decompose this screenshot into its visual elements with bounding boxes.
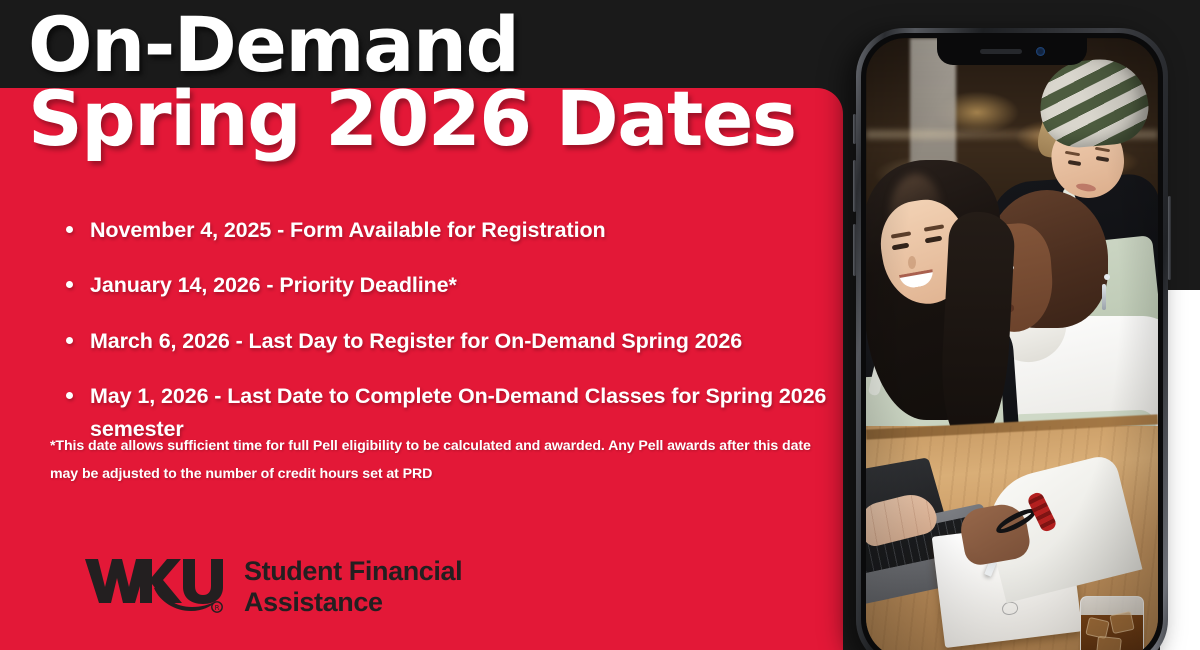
front-camera-icon	[1036, 47, 1045, 56]
phone-screen	[866, 38, 1158, 650]
wooden-table	[866, 426, 1158, 650]
logo-department-name: Student Financial Assistance	[244, 552, 462, 617]
bullet-dot-icon	[66, 337, 73, 344]
volume-up-button-icon[interactable]	[853, 160, 856, 212]
footnote-text: *This date allows sufficient time for fu…	[50, 432, 822, 489]
list-item-label: November 4, 2025 - Form Available for Re…	[90, 214, 606, 247]
notepad-sketch	[1001, 600, 1019, 616]
bullet-dot-icon	[66, 226, 73, 233]
key-dates-list: November 4, 2025 - Form Available for Re…	[66, 214, 836, 469]
power-button-icon[interactable]	[1168, 196, 1171, 280]
logo-line-1: Student Financial	[244, 556, 462, 587]
list-item: January 14, 2026 - Priority Deadline*	[66, 269, 836, 302]
volume-down-button-icon[interactable]	[853, 224, 856, 276]
list-item-label: March 6, 2026 - Last Day to Register for…	[90, 325, 742, 358]
earpiece-speaker-icon	[980, 49, 1022, 54]
poster-canvas: On-Demand Spring 2026 Dates November 4, …	[0, 0, 1200, 650]
wku-wordmark-icon: R	[84, 552, 226, 618]
phone-bezel	[861, 33, 1163, 650]
list-item: March 6, 2026 - Last Day to Register for…	[66, 325, 836, 358]
iced-drink-glass	[1080, 596, 1144, 650]
wku-logo: R Student Financial Assistance	[84, 552, 462, 618]
list-item: November 4, 2025 - Form Available for Re…	[66, 214, 836, 247]
page-title: On-Demand Spring 2026 Dates	[28, 8, 858, 155]
ear-stud-icon	[1104, 274, 1110, 280]
list-item-label: January 14, 2026 - Priority Deadline*	[90, 269, 457, 302]
phone-notch	[937, 38, 1087, 65]
logo-line-2: Assistance	[244, 587, 462, 618]
striped-beanie	[1036, 55, 1151, 150]
earring-icon	[1102, 284, 1106, 310]
ice-cube	[1096, 636, 1122, 650]
headline-line-2: Spring 2026 Dates	[28, 82, 858, 156]
bullet-dot-icon	[66, 281, 73, 288]
bullet-dot-icon	[66, 392, 73, 399]
photo-people-working	[866, 38, 1158, 650]
svg-text:R: R	[215, 604, 220, 612]
phone-mockup	[856, 28, 1168, 650]
person-left-nose	[908, 256, 916, 269]
headline-line-1: On-Demand	[28, 8, 858, 82]
